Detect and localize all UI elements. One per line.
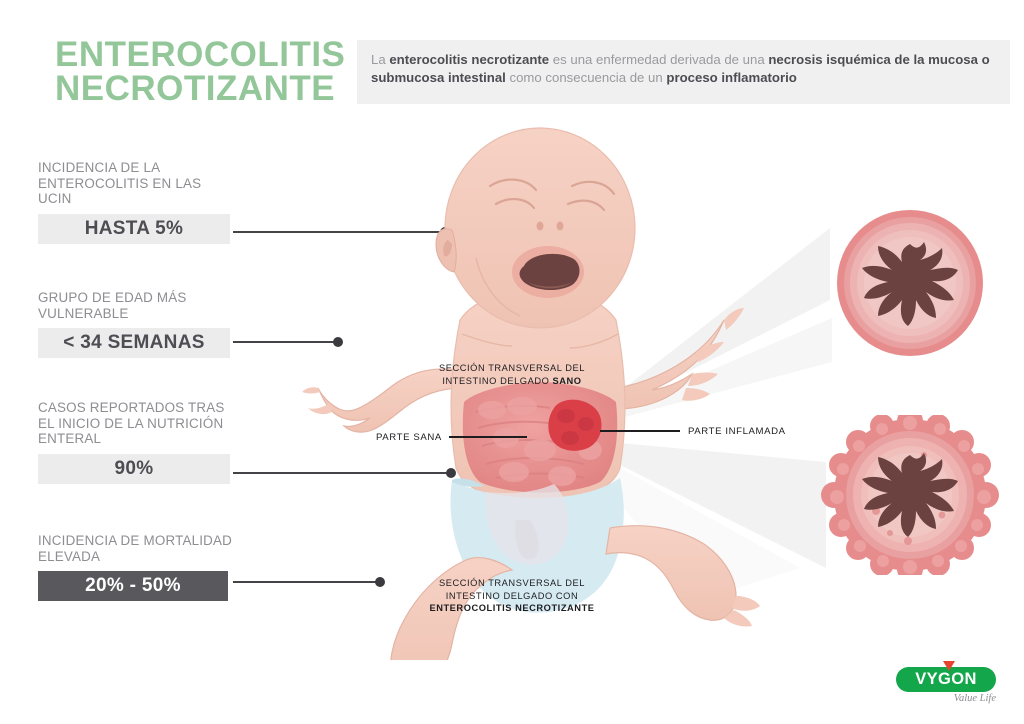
title-line-1: ENTEROCOLITIS [55,38,355,72]
caption-line-1: SECCIÓN TRANSVERSAL DEL [387,577,637,590]
title-line-2: NECROTIZANTE [55,72,355,106]
healthy-intestine-svg [820,208,1000,358]
callout-rule [600,430,680,433]
stat-label: INCIDENCIA DE MORTALIDAD ELEVADA [38,533,238,564]
description-box: La enterocolitis necrotizante es una enf… [357,40,1010,104]
stat-label: CASOS REPORTADOS TRAS EL INICIO DE LA NU… [38,400,238,447]
caption-line-3: ENTEROCOLITIS NECROTIZANTE [387,602,637,615]
header: ENTEROCOLITIS NECROTIZANTE La enterocoli… [0,0,1024,125]
stat-value: 20% - 50% [85,575,181,597]
callout-label: PARTE SANA [376,432,442,443]
callout-parte-inflamada: PARTE INFLAMADA [600,424,786,438]
logo-triangle-icon [943,661,955,671]
cross-section-healthy [820,208,1000,358]
stat-value: HASTA 5% [85,218,183,240]
callout-rule [449,436,527,439]
callout-label: PARTE INFLAMADA [688,426,786,437]
description-plain: es una enfermedad derivada de una [549,52,768,67]
stat-value-bar: < 34 SEMANAS [38,328,230,358]
page-title: ENTEROCOLITIS NECROTIZANTE [55,38,355,106]
description-text: La enterocolitis necrotizante es una enf… [371,51,996,86]
logo-wordmark: VYGON [915,670,977,689]
stat-label: GRUPO DE EDAD MÁS VULNERABLE [38,290,238,321]
logo-tagline: Value Life [896,693,996,704]
baby-right-arm [608,308,744,409]
stat-block-mortalidad: INCIDENCIA DE MORTALIDAD ELEVADA 20% - 5… [38,533,238,601]
vygon-logo[interactable]: VYGON Value Life [896,661,1008,709]
stat-value-bar: HASTA 5% [38,214,230,244]
stat-value-bar: 20% - 50% [38,571,228,601]
stat-block-casos-reportados: CASOS REPORTADOS TRAS EL INICIO DE LA NU… [38,400,238,484]
description-emphasis: proceso inflamatorio [666,70,796,85]
description-emphasis: enterocolitis necrotizante [389,52,549,67]
diseased-intestine-svg [812,415,1008,575]
baby-head [436,128,635,328]
caption-bold: SANO [553,376,582,386]
stat-block-incidencia-ucin: INCIDENCIA DE LA ENTEROCOLITIS EN LAS UC… [38,160,238,244]
cross-section-diseased [812,415,1008,575]
stat-value: 90% [115,458,154,480]
stat-value: < 34 SEMANAS [63,332,204,354]
caption-line-2: INTESTINO DELGADO CON [387,590,637,603]
description-plain: La [371,52,389,67]
stat-label: INCIDENCIA DE LA ENTEROCOLITIS EN LAS UC… [38,160,238,207]
callout-parte-sana: PARTE SANA [376,430,527,444]
caption-line-2: INTESTINO DELGADO SANO [387,375,637,388]
stat-value-bar: 90% [38,454,230,484]
caption-bold: ENTEROCOLITIS NECROTIZANTE [429,603,594,613]
infographic-canvas: ENTEROCOLITIS NECROTIZANTE La enterocoli… [0,0,1024,724]
cross-section-diseased-caption: SECCIÓN TRANSVERSAL DEL INTESTINO DELGAD… [387,577,637,615]
caption-normal: INTESTINO DELGADO [442,376,552,386]
caption-line-1: SECCIÓN TRANSVERSAL DEL [387,362,637,375]
description-plain: como consecuencia de un [506,70,667,85]
inflamed-segment [548,400,601,451]
cross-section-healthy-caption: SECCIÓN TRANSVERSAL DEL INTESTINO DELGAD… [387,362,637,387]
stat-block-grupo-edad: GRUPO DE EDAD MÁS VULNERABLE < 34 SEMANA… [38,290,238,358]
